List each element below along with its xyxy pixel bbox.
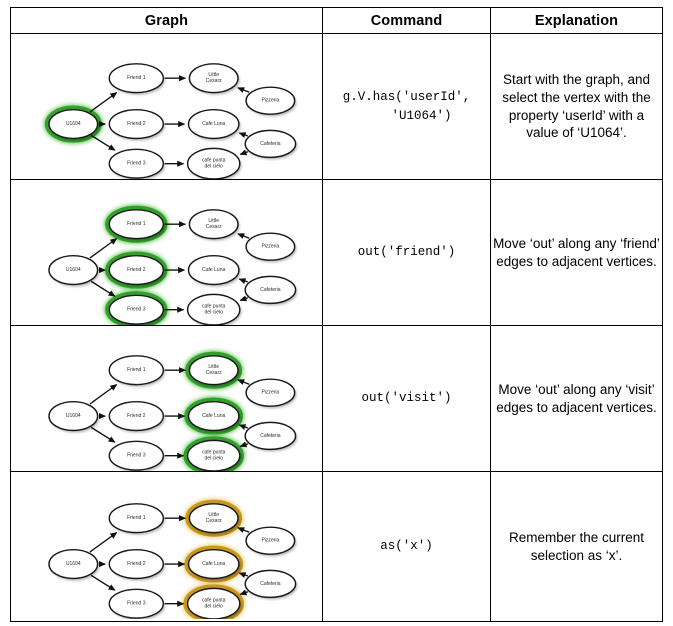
- graph-edge-u1604-to-friend3: [91, 427, 115, 442]
- node-label-pizzeria: Pizzeria: [261, 538, 279, 544]
- node-label-cafeluna: Cafe Luna: [202, 413, 225, 419]
- cell-command-row-3: out('visit'): [323, 326, 491, 472]
- graph-node-friend2: Friend 2: [109, 401, 163, 430]
- node-label-friend1: Friend 1: [127, 75, 146, 81]
- graph-node-cafepunta: cafe puntadel cielo: [188, 294, 240, 325]
- graph-node-cafeluna: Cafe Luna: [189, 255, 239, 284]
- node-label-friend2: Friend 2: [127, 121, 146, 127]
- graph-node-little: LittleCesarz: [189, 63, 238, 92]
- graph-node-u1604: U1604: [49, 401, 98, 430]
- node-label-friend1: Friend 1: [127, 367, 146, 373]
- node-label-u1604: U1604: [66, 561, 81, 567]
- node-label-pizzeria: Pizzeria: [261, 390, 279, 396]
- table-header-row: Graph Command Explanation: [11, 8, 663, 34]
- graph-node-friend1: Friend 1: [109, 355, 163, 384]
- graph-node-cafeteria: Cafeteria: [245, 276, 295, 303]
- graph-edge-u1604-to-friend1: [90, 532, 117, 552]
- cell-graph-row-2: U1604Friend 1Friend 2Friend 3LittleCesar…: [11, 180, 323, 326]
- graph-node-little: LittleCesarz: [189, 355, 238, 384]
- graph-edge-cafeteria-to-cafeluna: [239, 133, 248, 136]
- graph-diagram: U1604Friend 1Friend 2Friend 3LittleCesar…: [11, 181, 321, 325]
- column-header-graph: Graph: [11, 8, 323, 34]
- graph-edge-cafeteria-to-cafepunta: [240, 297, 248, 300]
- graph-diagram: U1604Friend 1Friend 2Friend 3LittleCesar…: [11, 475, 321, 619]
- graph-node-u1604: U1604: [49, 255, 98, 284]
- cell-command-row-2: out('friend'): [323, 180, 491, 326]
- graph-diagram: U1604Friend 1Friend 2Friend 3LittleCesar…: [11, 35, 321, 179]
- cell-explanation-row-4: Remember the current selection as ‘x’.: [491, 472, 663, 622]
- graph-edge-u1604-to-friend3: [91, 281, 115, 296]
- graph-edge-u1604-to-friend1: [90, 384, 117, 404]
- node-label-cafeluna: Cafe Luna: [202, 561, 225, 567]
- node-label-u1604: U1604: [66, 267, 81, 273]
- graph-node-cafeteria: Cafeteria: [245, 570, 295, 597]
- graph-edge-pizzeria-to-little: [238, 527, 249, 532]
- graph-edge-cafeteria-to-cafepunta: [240, 443, 248, 446]
- cell-command-row-4: as('x'): [323, 472, 491, 622]
- graph-node-cafepunta: cafe puntadel cielo: [188, 588, 240, 619]
- graph-diagram: U1604Friend 1Friend 2Friend 3LittleCesar…: [11, 327, 321, 471]
- cell-explanation-row-3: Move ‘out’ along any ‘visit’ edges to ad…: [491, 326, 663, 472]
- node-label-pizzeria: Pizzeria: [261, 244, 279, 250]
- node-label-cafepunta: cafe puntadel cielo: [202, 158, 226, 170]
- graph-edge-cafeteria-to-cafeluna: [239, 573, 248, 576]
- graph-edge-pizzeria-to-little: [238, 87, 249, 92]
- graph-node-pizzeria: Pizzeria: [246, 233, 295, 260]
- graph-node-cafepunta: cafe puntadel cielo: [188, 440, 240, 471]
- graph-edge-cafeteria-to-cafeluna: [239, 425, 248, 428]
- cell-explanation-row-1: Start with the graph, and select the ver…: [491, 34, 663, 180]
- graph-node-friend2: Friend 2: [109, 549, 163, 578]
- node-label-cafepunta: cafe puntadel cielo: [202, 598, 226, 610]
- node-label-friend1: Friend 1: [127, 515, 146, 521]
- node-label-friend3: Friend 3: [127, 307, 146, 313]
- node-label-cafepunta: cafe puntadel cielo: [202, 304, 226, 316]
- table-row: U1604Friend 1Friend 2Friend 3LittleCesar…: [11, 180, 663, 326]
- graph-node-cafeluna: Cafe Luna: [189, 401, 239, 430]
- graph-node-friend3: Friend 3: [109, 149, 163, 178]
- graph-node-friend2: Friend 2: [109, 255, 163, 284]
- table-header: Graph Command Explanation: [11, 8, 663, 34]
- node-label-friend2: Friend 2: [127, 267, 146, 273]
- graph-node-u1604: U1604: [49, 109, 98, 138]
- graph-edge-u1604-to-friend1: [90, 238, 117, 258]
- graph-node-friend3: Friend 3: [109, 441, 163, 470]
- graph-node-cafepunta: cafe puntadel cielo: [188, 148, 240, 179]
- graph-edge-cafeteria-to-cafeluna: [239, 279, 248, 282]
- column-header-explanation: Explanation: [491, 8, 663, 34]
- graph-edge-u1604-to-friend1: [90, 92, 117, 112]
- node-label-friend2: Friend 2: [127, 413, 146, 419]
- node-label-friend1: Friend 1: [127, 221, 146, 227]
- graph-node-cafeteria: Cafeteria: [245, 130, 295, 157]
- node-label-pizzeria: Pizzeria: [261, 98, 279, 104]
- cell-graph-row-4: U1604Friend 1Friend 2Friend 3LittleCesar…: [11, 472, 323, 622]
- graph-node-pizzeria: Pizzeria: [246, 87, 295, 114]
- graph-node-pizzeria: Pizzeria: [246, 379, 295, 406]
- node-label-cafepunta: cafe puntadel cielo: [202, 450, 226, 462]
- node-label-cafeteria: Cafeteria: [260, 141, 281, 147]
- node-label-cafeluna: Cafe Luna: [202, 267, 225, 273]
- graph-edge-pizzeria-to-little: [238, 233, 249, 238]
- graph-node-friend1: Friend 1: [109, 503, 163, 532]
- graph-edge-pizzeria-to-little: [238, 379, 249, 384]
- graph-edge-cafeteria-to-cafepunta: [240, 151, 248, 154]
- node-label-u1604: U1604: [66, 121, 81, 127]
- cell-explanation-row-2: Move ‘out’ along any ‘friend’ edges to a…: [491, 180, 663, 326]
- graph-node-u1604: U1604: [49, 549, 98, 578]
- graph-node-friend3: Friend 3: [109, 295, 163, 324]
- gremlin-steps-table: Graph Command Explanation U1604Friend 1F…: [10, 7, 663, 622]
- node-label-cafeluna: Cafe Luna: [202, 121, 225, 127]
- graph-edge-cafeteria-to-cafepunta: [240, 591, 248, 594]
- graph-node-cafeluna: Cafe Luna: [189, 549, 239, 578]
- graph-node-friend1: Friend 1: [109, 209, 163, 238]
- node-label-cafeteria: Cafeteria: [260, 581, 281, 587]
- graph-node-cafeluna: Cafe Luna: [189, 109, 239, 138]
- node-label-cafeteria: Cafeteria: [260, 433, 281, 439]
- node-label-friend3: Friend 3: [127, 453, 146, 459]
- cell-command-row-1: g.V.has('userId', 'U1064'): [323, 34, 491, 180]
- graph-node-cafeteria: Cafeteria: [245, 422, 295, 449]
- table-body: U1604Friend 1Friend 2Friend 3LittleCesar…: [11, 34, 663, 622]
- graph-node-little: LittleCesarz: [189, 209, 238, 238]
- node-label-u1604: U1604: [66, 413, 81, 419]
- graph-node-friend1: Friend 1: [109, 63, 163, 92]
- node-label-friend3: Friend 3: [127, 601, 146, 607]
- column-header-command: Command: [323, 8, 491, 34]
- graph-node-friend2: Friend 2: [109, 109, 163, 138]
- table-row: U1604Friend 1Friend 2Friend 3LittleCesar…: [11, 326, 663, 472]
- gremlin-steps-table-wrapper: Graph Command Explanation U1604Friend 1F…: [10, 7, 662, 619]
- cell-graph-row-3: U1604Friend 1Friend 2Friend 3LittleCesar…: [11, 326, 323, 472]
- node-label-friend3: Friend 3: [127, 161, 146, 167]
- table-row: U1604Friend 1Friend 2Friend 3LittleCesar…: [11, 472, 663, 622]
- graph-node-friend3: Friend 3: [109, 589, 163, 618]
- cell-graph-row-1: U1604Friend 1Friend 2Friend 3LittleCesar…: [11, 34, 323, 180]
- table-row: U1604Friend 1Friend 2Friend 3LittleCesar…: [11, 34, 663, 180]
- node-label-friend2: Friend 2: [127, 561, 146, 567]
- graph-edge-u1604-to-friend3: [91, 575, 115, 590]
- graph-node-little: LittleCesarz: [189, 503, 238, 532]
- graph-node-pizzeria: Pizzeria: [246, 527, 295, 554]
- node-label-cafeteria: Cafeteria: [260, 287, 281, 293]
- graph-edge-u1604-to-friend3: [91, 135, 115, 150]
